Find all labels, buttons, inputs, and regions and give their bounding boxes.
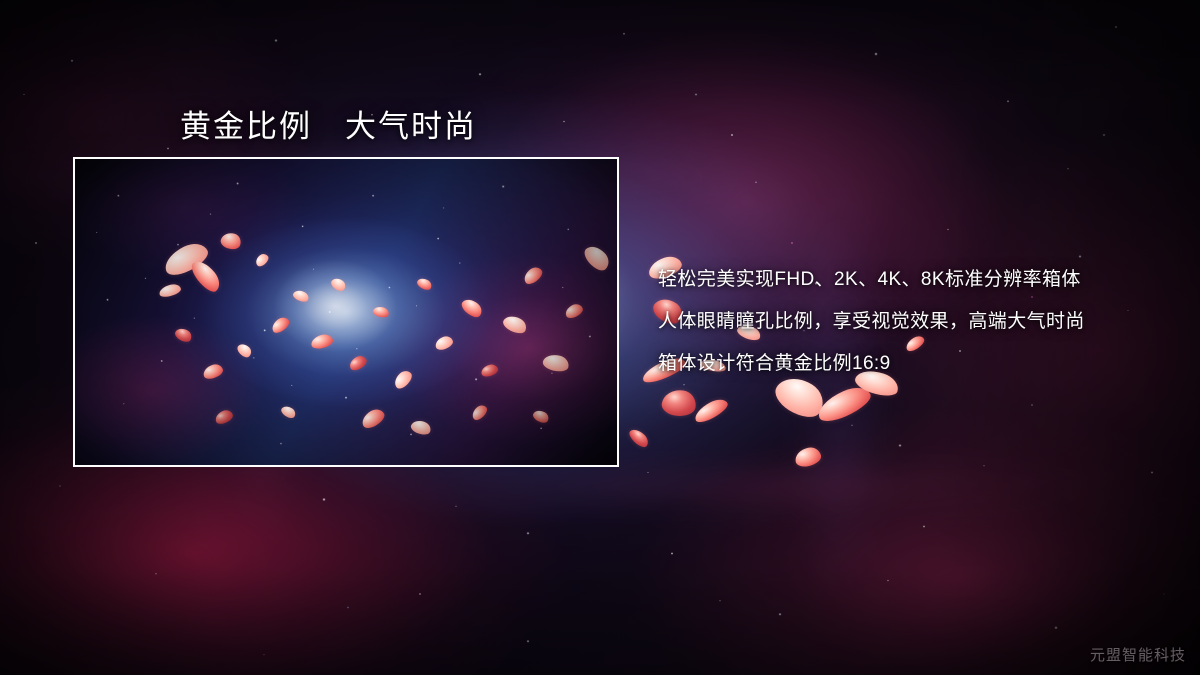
- frame-vignette: [75, 159, 617, 465]
- page-title: 黄金比例 大气时尚: [180, 101, 477, 146]
- description-line: 人体眼睛瞳孔比例，享受视觉效果，高端大气时尚: [658, 301, 1178, 343]
- description-line: 轻松完美实现FHD、2K、4K、8K标准分辨率箱体: [658, 259, 1178, 301]
- description-line: 箱体设计符合黄金比例16:9: [658, 343, 1178, 385]
- description-text-block: 轻松完美实现FHD、2K、4K、8K标准分辨率箱体 人体眼睛瞳孔比例，享受视觉效…: [658, 259, 1178, 385]
- presentation-slide: 黄金比例 大气时尚 轻松完美实现FHD、2K、4K、8K标准分辨率箱体 人体眼睛…: [0, 0, 1200, 675]
- framed-image-content: [75, 159, 617, 465]
- framed-image: [73, 157, 619, 467]
- watermark-brand: 元盟智能科技: [1090, 644, 1186, 665]
